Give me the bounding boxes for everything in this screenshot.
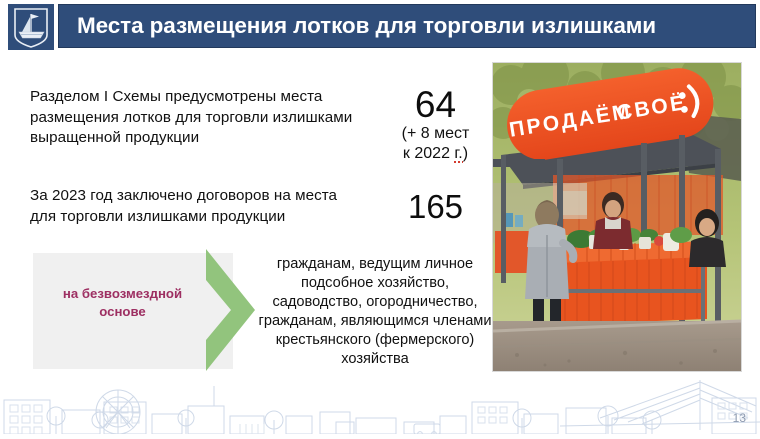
- stat-note-line-2-prefix: к 2022: [403, 145, 454, 162]
- city-skyline-watermark-icon: [0, 372, 760, 434]
- gratis-basis-label: на безвозмездной основе: [40, 285, 205, 321]
- emblem: [8, 4, 54, 50]
- paragraph-section-two: За 2023 год заключено договоров на места…: [30, 186, 350, 227]
- ship-shield-emblem-icon: [8, 4, 54, 50]
- stat-note-places: (+ 8 мест к 2022 г.): [378, 124, 493, 164]
- page-title: Места размещения лотков для торговли изл…: [77, 13, 656, 39]
- paragraph-section-one: Разделом I Схемы предусмотрены места раз…: [30, 87, 375, 149]
- stat-value-places: 64: [378, 86, 493, 123]
- stat-value-contracts: 165: [378, 190, 493, 223]
- page-number: 13: [733, 411, 746, 425]
- green-chevron-right-icon: [203, 247, 258, 373]
- header-bar: Места размещения лотков для торговли изл…: [58, 4, 756, 48]
- beneficiaries-text: гражданам, ведущим личное подсобное хозя…: [256, 255, 494, 369]
- stat-note-misspelled-token: г.: [454, 145, 462, 163]
- stat-note-line-2-suffix: ): [463, 145, 468, 162]
- market-stall-photo: ПРОДАЁМ СВОЁ: [492, 62, 742, 372]
- stat-note-line-1: (+ 8 мест: [402, 125, 470, 142]
